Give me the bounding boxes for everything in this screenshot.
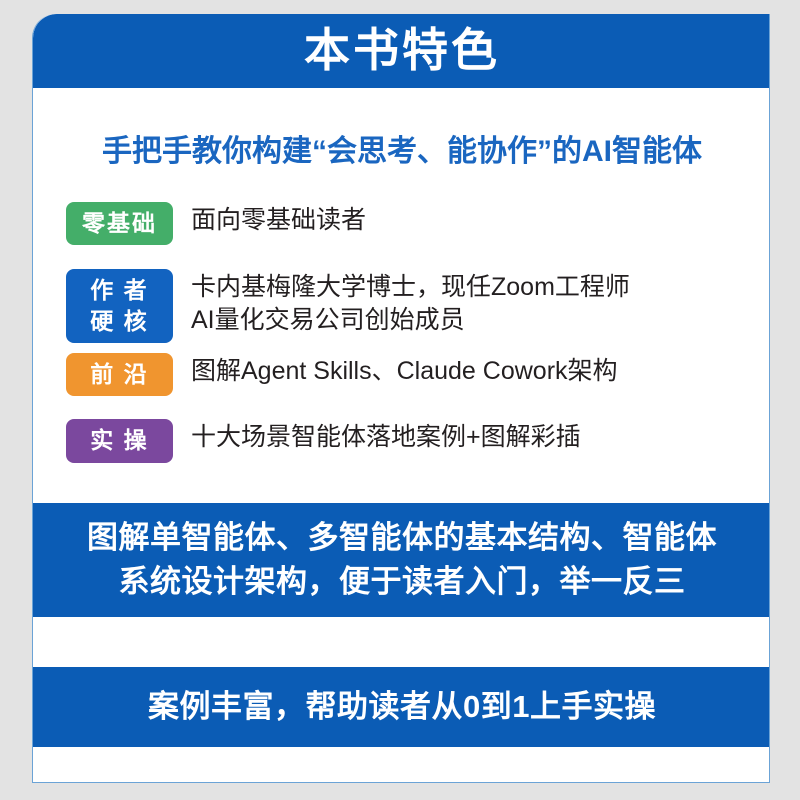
badge-frontier: 前 沿 [66, 353, 173, 396]
feature-text-author: 卡内基梅隆大学博士，现任Zoom工程师 AI量化交易公司创始成员 [191, 269, 756, 336]
page-title: 本书特色 [304, 27, 500, 75]
feature-list: 零基础 面向零基础读者 作 者 硬 核 卡内基梅隆大学博士，现任Zoom工程师 … [66, 202, 756, 463]
badge-label-line: 零基础 [66, 208, 173, 238]
feature-text-line: 十大场景智能体落地案例+图解彩插 [191, 421, 756, 454]
banner-line: 案例丰富，帮助读者从0到1上手实操 [148, 685, 656, 729]
badge-zero-basis: 零基础 [66, 202, 173, 245]
banner-cases: 案例丰富，帮助读者从0到1上手实操 [33, 667, 770, 747]
badge-label-line: 硬 核 [66, 306, 173, 336]
feature-text-line: AI量化交易公司创始成员 [191, 304, 756, 337]
feature-text-line: 图解Agent Skills、Claude Cowork架构 [191, 355, 756, 388]
feature-text-line: 面向零基础读者 [191, 204, 756, 237]
feature-row-zero-basis: 零基础 面向零基础读者 [66, 202, 756, 245]
banner-line: 系统设计架构，便于读者入门，举一反三 [119, 560, 686, 604]
badge-label-line: 实 操 [66, 425, 173, 455]
banner-line: 图解单智能体、多智能体的基本结构、智能体 [87, 516, 717, 560]
banner-architecture: 图解单智能体、多智能体的基本结构、智能体 系统设计架构，便于读者入门，举一反三 [33, 503, 770, 617]
feature-row-author: 作 者 硬 核 卡内基梅隆大学博士，现任Zoom工程师 AI量化交易公司创始成员 [66, 269, 756, 343]
header-band: 本书特色 [33, 14, 770, 88]
feature-text-line: 卡内基梅隆大学博士，现任Zoom工程师 [191, 271, 756, 304]
feature-row-frontier: 前 沿 图解Agent Skills、Claude Cowork架构 [66, 353, 756, 396]
promo-page: 本书特色 手把手教你构建“会思考、能协作”的AI智能体 零基础 面向零基础读者 … [0, 0, 800, 800]
badge-label-line: 作 者 [66, 275, 173, 305]
feature-card: 本书特色 手把手教你构建“会思考、能协作”的AI智能体 零基础 面向零基础读者 … [32, 14, 770, 783]
feature-row-practice: 实 操 十大场景智能体落地案例+图解彩插 [66, 419, 756, 462]
badge-label-line: 前 沿 [66, 359, 173, 389]
feature-text-zero-basis: 面向零基础读者 [191, 202, 756, 237]
badge-author: 作 者 硬 核 [66, 269, 173, 343]
subtitle: 手把手教你构建“会思考、能协作”的AI智能体 [33, 126, 770, 170]
badge-practice: 实 操 [66, 419, 173, 462]
feature-text-practice: 十大场景智能体落地案例+图解彩插 [191, 419, 756, 454]
feature-text-frontier: 图解Agent Skills、Claude Cowork架构 [191, 353, 756, 388]
